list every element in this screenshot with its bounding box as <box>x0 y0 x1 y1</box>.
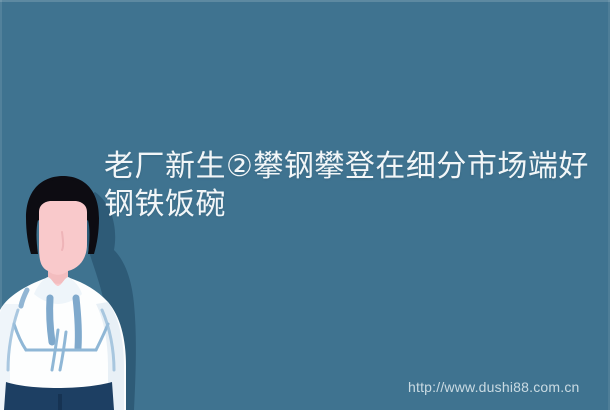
nose-line <box>62 232 63 250</box>
face <box>39 201 87 290</box>
watermark-url: http://www.dushi88.com.cn <box>408 379 580 396</box>
image-canvas: 老厂新生②攀钢攀登在细分市场端好钢铁饭碗 http://www.dushi88.… <box>0 0 610 410</box>
headline-text: 老厂新生②攀钢攀登在细分市场端好钢铁饭碗 <box>104 148 602 224</box>
canvas-top-edge <box>0 0 610 2</box>
